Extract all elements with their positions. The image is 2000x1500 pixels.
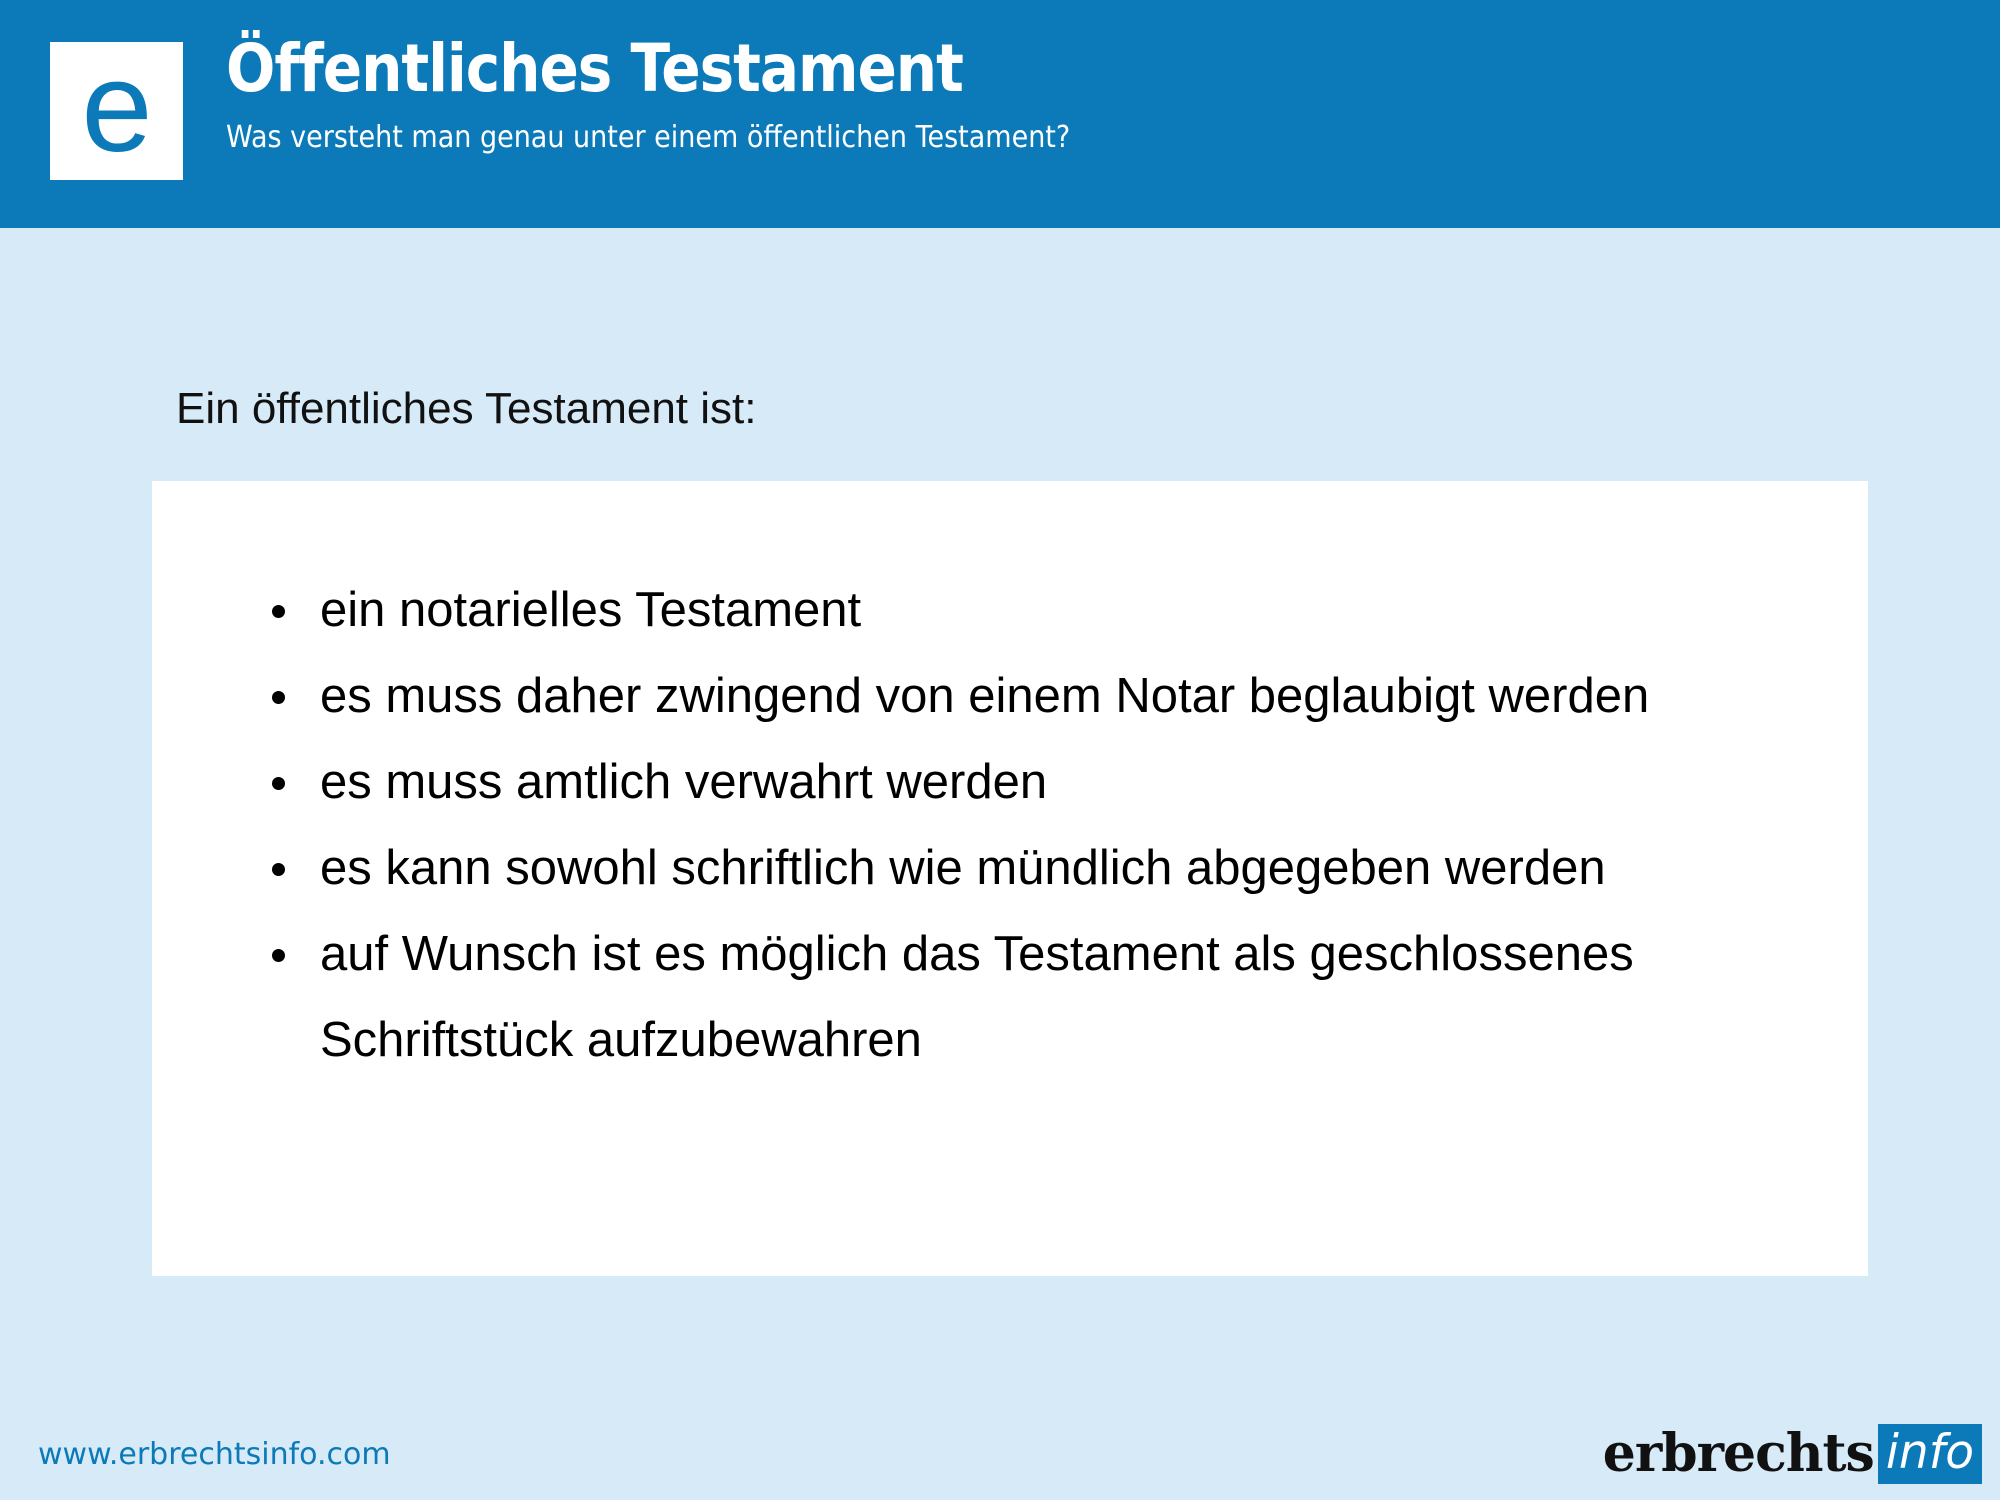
list-item: auf Wunsch ist es möglich das Testament …: [262, 911, 1808, 1083]
list-item: es muss daher zwingend von einem Notar b…: [262, 653, 1808, 739]
brand-logo-letter: e: [81, 44, 151, 172]
bullet-list: ein notarielles Testament es muss daher …: [152, 481, 1868, 1083]
header-text-block: Öffentliches Testament Was versteht man …: [226, 30, 1956, 158]
footer-website-url[interactable]: www.erbrechtsinfo.com: [38, 1437, 391, 1473]
page-header: e Öffentliches Testament Was versteht ma…: [0, 0, 2000, 228]
intro-text: Ein öffentliches Testament ist:: [176, 383, 756, 435]
page-subtitle: Was versteht man genau unter einem öffen…: [226, 118, 1783, 158]
footer-brand-word: erbrechts: [1603, 1426, 1874, 1482]
content-card: ein notarielles Testament es muss daher …: [152, 481, 1868, 1276]
list-item: ein notarielles Testament: [262, 567, 1808, 653]
page-title: Öffentliches Testament: [226, 30, 1748, 108]
footer-brand-logo: erbrechts info: [1603, 1425, 1982, 1483]
footer-brand-tag: info: [1878, 1424, 1982, 1484]
list-item: es kann sowohl schriftlich wie mündlich …: [262, 825, 1808, 911]
brand-logo-mark: e: [50, 42, 183, 180]
list-item: es muss amtlich verwahrt werden: [262, 739, 1808, 825]
